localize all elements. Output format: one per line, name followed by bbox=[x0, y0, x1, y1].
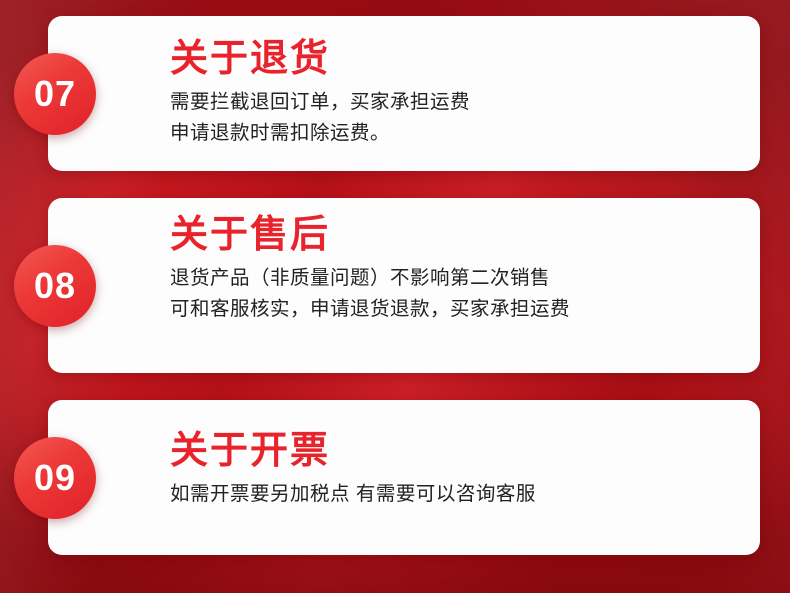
card-body-08: 关于售后 退货产品（非质量问题）不影响第二次销售 可和客服核实，申请退货退款，买… bbox=[48, 198, 760, 344]
card-title-08: 关于售后 bbox=[170, 214, 734, 257]
card-title-07: 关于退货 bbox=[170, 38, 734, 81]
card-number-07: 07 bbox=[34, 76, 76, 112]
card-number-09: 09 bbox=[34, 460, 76, 496]
card-number-08: 08 bbox=[34, 268, 76, 304]
card-title-09: 关于开票 bbox=[170, 430, 734, 473]
info-card-07: 07 关于退货 需要拦截退回订单，买家承担运费 申请退款时需扣除运费。 bbox=[48, 16, 760, 171]
card-line-08-1: 退货产品（非质量问题）不影响第二次销售 bbox=[170, 263, 734, 295]
promo-page: 07 关于退货 需要拦截退回订单，买家承担运费 申请退款时需扣除运费。 08 关… bbox=[0, 0, 790, 593]
card-number-badge-09: 09 bbox=[14, 437, 96, 519]
card-number-badge-07: 07 bbox=[14, 53, 96, 135]
card-body-07: 关于退货 需要拦截退回订单，买家承担运费 申请退款时需扣除运费。 bbox=[48, 16, 760, 168]
card-line-07-2: 申请退款时需扣除运费。 bbox=[170, 118, 734, 150]
card-line-08-2: 可和客服核实，申请退货退款，买家承担运费 bbox=[170, 294, 734, 326]
card-line-09-1: 如需开票要另加税点 有需要可以咨询客服 bbox=[170, 479, 734, 511]
info-card-09: 09 关于开票 如需开票要另加税点 有需要可以咨询客服 bbox=[48, 400, 760, 555]
info-card-08: 08 关于售后 退货产品（非质量问题）不影响第二次销售 可和客服核实，申请退货退… bbox=[48, 198, 760, 373]
card-line-07-1: 需要拦截退回订单，买家承担运费 bbox=[170, 87, 734, 119]
card-body-09: 关于开票 如需开票要另加税点 有需要可以咨询客服 bbox=[48, 400, 760, 528]
card-number-badge-08: 08 bbox=[14, 245, 96, 327]
